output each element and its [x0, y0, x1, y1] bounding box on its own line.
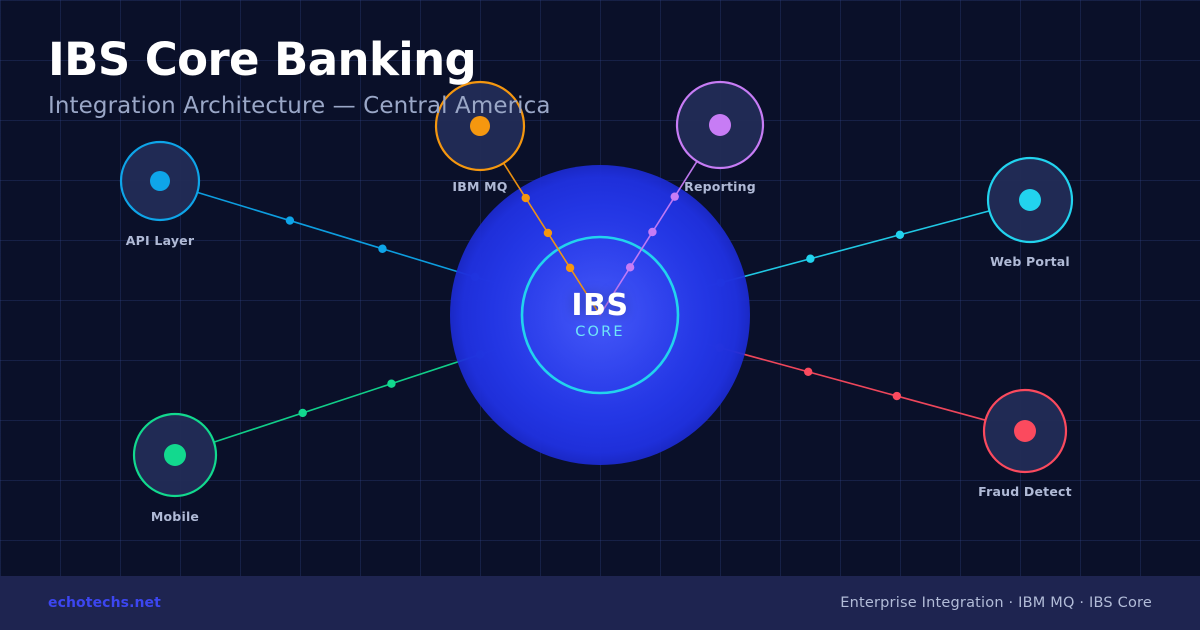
node-dot-mobile[interactable] [164, 444, 186, 466]
node-dot-web-portal[interactable] [1019, 189, 1041, 211]
node-dot-api-layer[interactable] [150, 171, 170, 191]
footer-bar: echotechs.net Enterprise Integration · I… [0, 576, 1200, 630]
link-particle-web-portal [896, 231, 904, 239]
node-dot-reporting[interactable] [709, 114, 731, 136]
node-label-web-portal: Web Portal [990, 254, 1070, 269]
node-mobile[interactable] [134, 414, 216, 496]
node-dot-fraud-detect[interactable] [1014, 420, 1036, 442]
link-particle-mobile [298, 409, 306, 417]
link-particle-ibm-mq [544, 229, 552, 237]
footer-site-name: echotechs.net [48, 595, 161, 611]
node-reporting[interactable] [677, 82, 763, 168]
node-web-portal[interactable] [988, 158, 1072, 242]
link-particle-fraud-detect [804, 368, 812, 376]
header-block: IBS Core Banking Integration Architectur… [48, 36, 551, 119]
node-fraud-detect[interactable] [984, 390, 1066, 472]
page-title: IBS Core Banking [48, 36, 551, 83]
node-api-layer[interactable] [121, 142, 199, 220]
link-particle-fraud-detect [893, 392, 901, 400]
page-subtitle: Integration Architecture — Central Ameri… [48, 93, 551, 119]
node-label-mobile: Mobile [151, 509, 199, 524]
link-particle-api-layer [286, 216, 294, 224]
link-particle-web-portal [806, 255, 814, 263]
link-particle-reporting [648, 228, 656, 236]
node-label-reporting: Reporting [684, 179, 756, 194]
node-label-fraud-detect: Fraud Detect [978, 484, 1072, 499]
node-label-api-layer: API Layer [126, 233, 194, 248]
link-particle-ibm-mq [566, 264, 574, 272]
link-particle-ibm-mq [522, 194, 530, 202]
link-particle-reporting [671, 192, 679, 200]
link-particle-reporting [626, 263, 634, 271]
footer-tags: Enterprise Integration · IBM MQ · IBS Co… [840, 595, 1152, 611]
link-particle-api-layer [378, 245, 386, 253]
node-label-ibm-mq: IBM MQ [452, 179, 507, 194]
infographic-canvas: IBS Core Banking Integration Architectur… [0, 0, 1200, 630]
link-particle-mobile [387, 380, 395, 388]
